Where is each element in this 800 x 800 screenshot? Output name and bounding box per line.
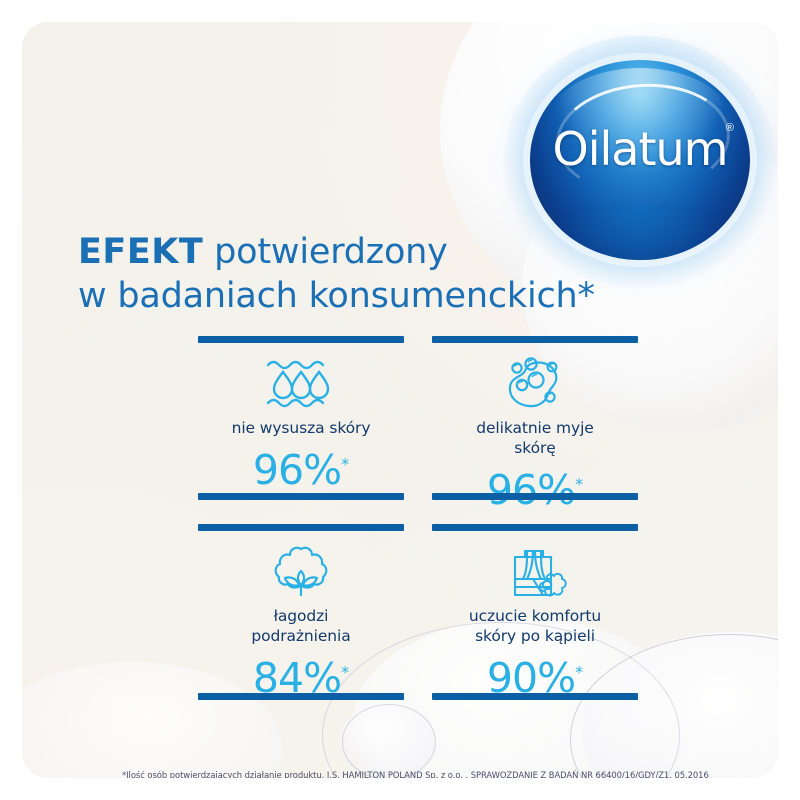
headline-line1-rest: potwierdzony (203, 232, 447, 272)
advertisement-card: Oilatum ® EFEKT potwierdzony w badaniach… (0, 0, 800, 800)
sponge-bubbles-icon (504, 357, 566, 411)
stat-cell-delikatnie-myje-skore: delikatnie myjeskórę 96%* (432, 343, 638, 493)
divider-bar (198, 693, 404, 700)
bathrobe-flower-icon (503, 545, 567, 599)
stats-grid: nie wysusza skóry 96%* (198, 336, 638, 700)
divider-bar (432, 524, 638, 531)
row2-bottom-rules (198, 693, 638, 700)
asterisk-marker: * (575, 474, 583, 493)
registered-trademark-icon: ® (726, 122, 734, 134)
asterisk-marker: * (341, 454, 349, 473)
asterisk-marker: * (341, 662, 349, 681)
page-title: EFEKT potwierdzony w badaniach konsumenc… (78, 230, 698, 318)
stat-label: nie wysusza skóry (232, 419, 371, 439)
divider-bar (432, 693, 638, 700)
row1-bottom-rules (198, 493, 638, 500)
stat-label: uczucie komfortuskóry po kąpieli (469, 607, 601, 647)
stats-row-2: łagodzipodrażnienia 84%* (198, 531, 638, 693)
stat-cell-uczucie-komfortu: uczucie komfortuskóry po kąpieli 90%* (432, 531, 638, 693)
bubble-outline-c (342, 704, 436, 778)
cream-panel: Oilatum ® EFEKT potwierdzony w badaniach… (22, 22, 778, 778)
row2-top-rules (198, 524, 638, 531)
stat-label: delikatnie myjeskórę (476, 419, 593, 459)
stat-value: 96%* (487, 466, 583, 514)
headline-line2: w badaniach konsumenckich* (78, 274, 698, 318)
divider-bar (198, 493, 404, 500)
headline-emphasis: EFEKT (78, 232, 203, 272)
stat-cell-lagodzi-podraznienia: łagodzipodrażnienia 84%* (198, 531, 404, 693)
cotton-flower-icon (270, 545, 332, 599)
brand-name: Oilatum (530, 122, 750, 176)
footnote-disclaimer: *Ilość osób potwierdzających działanie p… (122, 770, 742, 778)
divider-bar (432, 493, 638, 500)
divider-bar (198, 524, 404, 531)
row1-top-rules (198, 336, 638, 343)
stats-row-1: nie wysusza skóry 96%* (198, 343, 638, 493)
stat-label: łagodzipodrażnienia (251, 607, 350, 647)
stat-cell-nie-wysusza-skory: nie wysusza skóry 96%* (198, 343, 404, 493)
background-bubble-small (340, 702, 436, 778)
stat-value: 96%* (253, 446, 349, 494)
water-droplets-icon (264, 357, 338, 411)
asterisk-marker: * (575, 662, 583, 681)
divider-bar (432, 336, 638, 343)
divider-bar (198, 336, 404, 343)
